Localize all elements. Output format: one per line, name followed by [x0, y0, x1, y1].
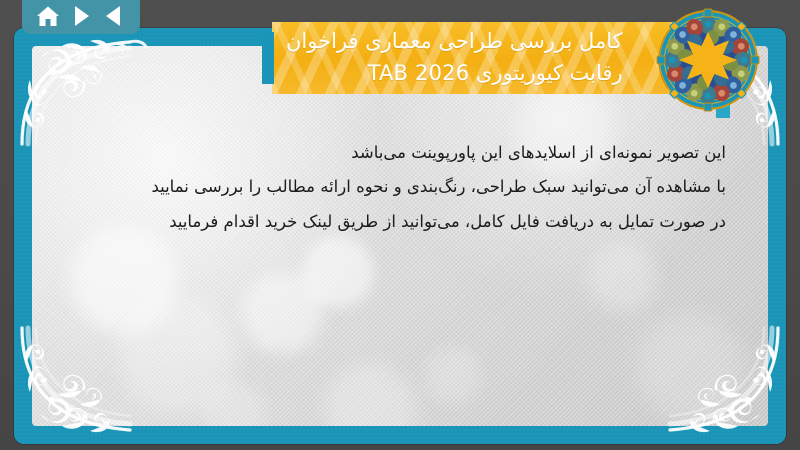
- triangle-right-icon: [71, 5, 91, 27]
- previous-slide-button[interactable]: [101, 3, 127, 29]
- bokeh-circle: [302, 236, 374, 308]
- bokeh-circle: [424, 346, 482, 404]
- slide-viewer: این تصویر نمونه‌ای از اسلایدهای این پاور…: [0, 0, 800, 450]
- title-line-2: رقابت کیوریتوری TAB 2026: [286, 58, 623, 90]
- home-button[interactable]: [35, 3, 61, 29]
- body-line-3: در صورت تمایل به دریافت فایل کامل، می‌تو…: [74, 205, 726, 239]
- bokeh-circle: [636, 314, 746, 424]
- bokeh-circle: [202, 382, 266, 426]
- bokeh-circle: [242, 272, 324, 354]
- bokeh-circle: [70, 226, 178, 334]
- mandala-ornament-icon: [652, 4, 764, 116]
- triangle-left-icon: [104, 5, 124, 27]
- body-line-2: با مشاهده آن می‌توانید سبک طراحی، رنگ‌بن…: [74, 170, 726, 204]
- page-title: کامل بررسی طراحی معماری فراخوان رقابت کی…: [286, 26, 623, 90]
- bokeh-circle: [118, 296, 236, 414]
- home-icon: [36, 5, 60, 28]
- navigation-toolbar: [22, 0, 140, 34]
- slide-body-text: این تصویر نمونه‌ای از اسلایدهای این پاور…: [74, 136, 726, 239]
- bokeh-circle: [588, 242, 658, 312]
- banner-left-tab: [262, 32, 274, 84]
- next-slide-button[interactable]: [68, 3, 94, 29]
- title-line-1: کامل بررسی طراحی معماری فراخوان: [286, 26, 623, 58]
- bokeh-circle: [324, 364, 416, 426]
- body-line-1: این تصویر نمونه‌ای از اسلایدهای این پاور…: [74, 136, 726, 170]
